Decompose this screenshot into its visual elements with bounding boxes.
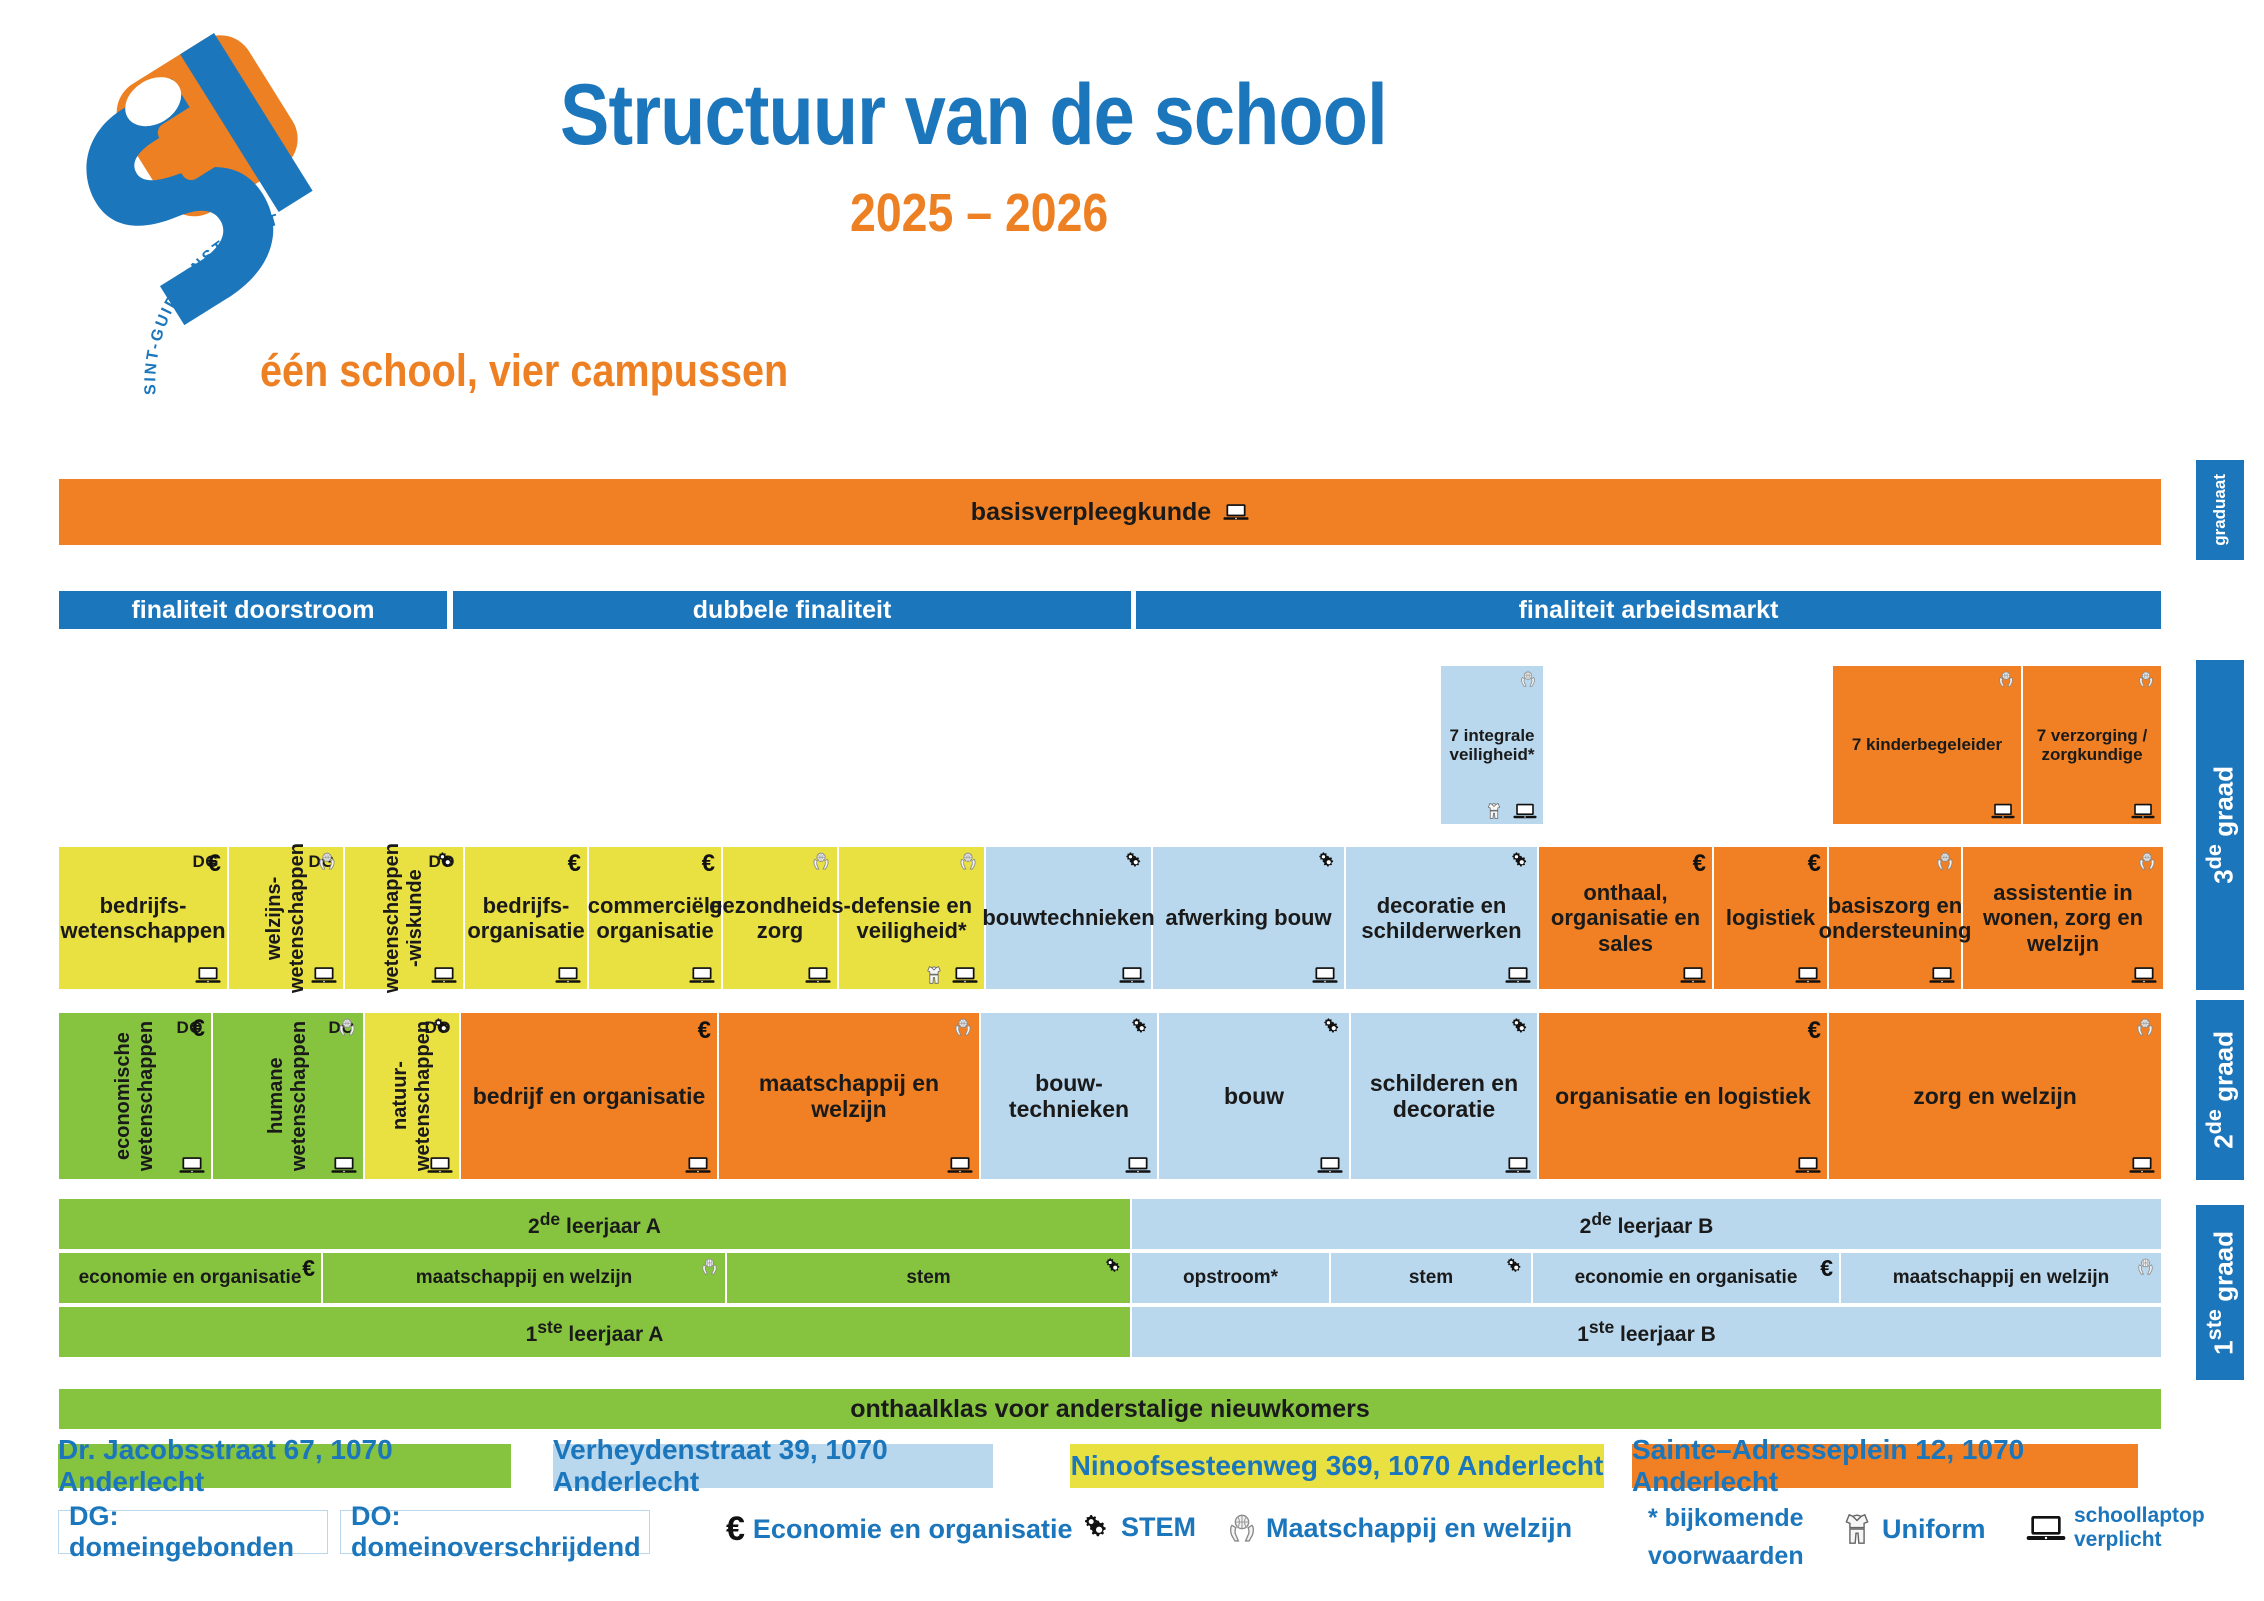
grade2-maatschappij-en-welzijn-label: maatschappij en welzijn	[719, 1070, 979, 1122]
grade3-bouwtechnieken[interactable]: bouwtechnieken	[985, 846, 1152, 990]
grade2-bedrijf-en-organisatie[interactable]: € bedrijf en organisatie	[460, 1012, 718, 1180]
poster-header: SINT-GUIDO-INSTITUUT Structuur van de sc…	[0, 0, 2264, 440]
grade2-humane-wetenschappen[interactable]: DO humane wetenschappen	[212, 1012, 364, 1180]
schoollaptop-icon	[1513, 802, 1537, 820]
grade3-decoratie-en-schilderwerken[interactable]: decoratie en schilderwerken	[1345, 846, 1538, 990]
grade-tab-2de-label: 2de graad	[2201, 1031, 2240, 1149]
schoollaptop-icon	[2131, 802, 2155, 820]
year7-integrale-veiligheid[interactable]: 7 integrale veiligheid*	[1440, 665, 1544, 825]
stem-gears-icon	[1511, 1017, 1531, 1037]
maatschappij-welzijn-icon	[811, 851, 831, 871]
maatschappij-welzijn-icon	[958, 851, 978, 871]
top-right-icons	[1511, 851, 1531, 871]
option-B-1[interactable]: stem	[1330, 1252, 1532, 1304]
bottom-right-icon	[555, 965, 581, 985]
grade-tab-2de: 2de graad	[2196, 1000, 2244, 1180]
grade3-logistiek[interactable]: € logistiek	[1713, 846, 1828, 990]
legend-laptop-line1: schoollaptop	[2074, 1504, 2205, 1527]
grade3-assistentie-in-wonen-zorg-en-welzijn-label: assistentie in wonen, zorg en welzijn	[1963, 880, 2163, 955]
schoollaptop-icon	[1505, 965, 1531, 985]
schoollaptop-icon	[1795, 1155, 1821, 1175]
school-year: 2025 – 2026	[850, 182, 1624, 244]
option-A-2[interactable]: stem	[726, 1252, 1131, 1304]
legend-laptop-text: schoollaptop verplicht	[2074, 1504, 2205, 1552]
campus-address-0[interactable]: Dr. Jacobsstraat 67, 1070 Anderlecht	[58, 1444, 511, 1488]
grade2-economische-wetenschappen-label: economische wetenschappen	[106, 1013, 164, 1179]
option-A-1-label: maatschappij en welzijn	[410, 1267, 638, 1289]
grade2-bouw[interactable]: bouw	[1158, 1012, 1350, 1180]
bottom-right-icon	[311, 965, 337, 985]
year1-B[interactable]: 1ste leerjaar B	[1131, 1306, 2162, 1358]
schoollaptop-icon	[1119, 965, 1145, 985]
euro-icon: €	[1808, 1017, 1821, 1044]
euro-icon: €	[726, 1512, 745, 1546]
maatschappij-welzijn-icon	[1997, 670, 2015, 688]
grade3-decoratie-en-schilderwerken-label: decoratie en schilderwerken	[1346, 893, 1537, 943]
grade2-natuurwetenschappen[interactable]: DO natuur- wetenschappen	[364, 1012, 460, 1180]
bottom-right-icon	[195, 965, 221, 985]
bottom-right-icon	[947, 1155, 973, 1175]
legend-laptop: schoollaptop verplicht	[2026, 1504, 2205, 1552]
legend-laptop-line2: verplicht	[2074, 1528, 2162, 1551]
top-right-icons: €	[568, 851, 581, 876]
option-B-2[interactable]: €economie en organisatie	[1532, 1252, 1840, 1304]
top-right-icons	[1131, 1017, 1151, 1037]
grade3-onthaal-organisatie-en-sales-label: onthaal, organisatie en sales	[1539, 880, 1712, 955]
grade2-zorg-en-welzijn-label: zorg en welzijn	[1907, 1083, 2083, 1109]
grade2-maatschappij-en-welzijn[interactable]: maatschappij en welzijn	[718, 1012, 980, 1180]
maatschappij-welzijn-icon	[317, 851, 337, 871]
grade3-onthaal-organisatie-en-sales[interactable]: € onthaal, organisatie en sales	[1538, 846, 1713, 990]
bottom-right-icon	[689, 965, 715, 985]
schoollaptop-icon	[331, 1155, 357, 1175]
bottom-right-icon	[2129, 1155, 2155, 1175]
legend-welzijn: Maatschappij en welzijn	[1226, 1512, 1572, 1544]
grade2-zorg-en-welzijn[interactable]: zorg en welzijn	[1828, 1012, 2162, 1180]
year7-verzorging-zorgkundige[interactable]: 7 verzorging / zorgkundige	[2022, 665, 2162, 825]
grade2-bouwtechnieken[interactable]: bouw- technieken	[980, 1012, 1158, 1180]
page-title: Structuur van de school	[560, 72, 1850, 158]
maatschappij-welzijn-icon	[2137, 851, 2157, 871]
bottom-right-icon-2	[1485, 802, 1503, 820]
stem-gears-icon	[1506, 1257, 1525, 1276]
grade3-gezondheidszorg[interactable]: gezondheids- zorg	[722, 846, 838, 990]
campus-address-label-1: Verheydenstraat 39, 1070 Anderlecht	[553, 1434, 993, 1498]
bottom-right-icon	[1991, 802, 2015, 820]
option-A-1[interactable]: maatschappij en welzijn	[322, 1252, 726, 1304]
legend-welzijn-label: Maatschappij en welzijn	[1266, 1513, 1572, 1544]
schoollaptop-icon	[2131, 965, 2157, 985]
bottom-right-icon	[2131, 965, 2157, 985]
top-right-icons	[317, 851, 337, 871]
top-right-icons	[811, 851, 831, 871]
legend-stem-label: STEM	[1121, 1512, 1196, 1543]
top-right-icons: €	[1820, 1257, 1833, 1282]
finality-2[interactable]: finaliteit arbeidsmarkt	[1135, 590, 2162, 630]
legend-economie: €Economie en organisatie	[726, 1512, 1073, 1546]
year1-A[interactable]: 1ste leerjaar A	[58, 1306, 1131, 1358]
grade3-gezondheidszorg-label: gezondheids- zorg	[703, 893, 857, 943]
euro-icon: €	[208, 850, 221, 877]
top-right-icons	[958, 851, 978, 871]
top-right-icons	[1318, 851, 1338, 871]
top-right-icons: €	[1808, 1017, 1821, 1043]
top-right-icons	[953, 1017, 973, 1037]
bottom-right-icon	[179, 1155, 205, 1175]
grade-tab-3de: 3de graad	[2196, 660, 2244, 990]
legend-economie-label: Economie en organisatie	[753, 1514, 1073, 1545]
maatschappij-welzijn-icon	[2137, 670, 2155, 688]
top-right-icons	[700, 1257, 719, 1276]
year2-A[interactable]: 2de leerjaar A	[58, 1198, 1131, 1250]
legend-dg-label: DG: domeingebonden	[69, 1501, 317, 1563]
finality-label-0: finaliteit doorstroom	[125, 596, 380, 625]
top-right-icons	[1935, 851, 1955, 871]
top-right-icons	[1125, 851, 1145, 871]
option-B-1-label: stem	[1403, 1267, 1459, 1289]
finality-1[interactable]: dubbele finaliteit	[452, 590, 1132, 630]
onthaalklas-bar[interactable]: onthaalklas voor anderstalige nieuwkomer…	[58, 1388, 2162, 1430]
finality-0[interactable]: finaliteit doorstroom	[58, 590, 448, 630]
grade3-afwerking-bouw[interactable]: afwerking bouw	[1152, 846, 1345, 990]
grade3-bedrijfswetenschappen[interactable]: DG€ bedrijfs- wetenschappen	[58, 846, 228, 990]
graduaat-bar-label: basisverpleegkunde	[965, 498, 1255, 527]
schoollaptop-icon	[1680, 965, 1706, 985]
bottom-right-icon	[1317, 1155, 1343, 1175]
stem-gears-icon	[1105, 1257, 1124, 1276]
grade2-bouwtechnieken-label: bouw- technieken	[981, 1070, 1157, 1122]
schoollaptop-icon	[179, 1155, 205, 1175]
bottom-right-icon	[1312, 965, 1338, 985]
finality-label-1: dubbele finaliteit	[687, 596, 898, 625]
option-B-3-label: maatschappij en welzijn	[1887, 1267, 2115, 1289]
bottom-right-icon	[952, 965, 978, 985]
top-right-icons: €	[1808, 851, 1821, 876]
grade3-commerciele-organisatie[interactable]: € commerciële organisatie	[588, 846, 722, 990]
schoollaptop-icon	[1125, 1155, 1151, 1175]
bottom-right-icon-2	[924, 965, 944, 985]
schoollaptop-icon	[311, 965, 337, 985]
euro-icon: €	[1808, 850, 1821, 877]
year7-integrale-veiligheid-label: 7 integrale veiligheid*	[1441, 726, 1543, 765]
grade3-defensie-en-veiligheid[interactable]: defensie en veiligheid*	[838, 846, 985, 990]
top-right-icons	[1511, 1017, 1531, 1037]
schoollaptop-icon	[1795, 965, 1821, 985]
top-right-icons: €	[1693, 851, 1706, 876]
stem-gears-icon	[1318, 851, 1338, 871]
top-right-icons	[337, 1017, 357, 1037]
grade2-bouw-label: bouw	[1218, 1083, 1290, 1109]
bottom-right-icon	[331, 1155, 357, 1175]
top-right-icons	[1519, 670, 1537, 688]
legend-conditions-line2: voorwaarden	[1648, 1538, 1804, 1576]
schoollaptop-icon	[1505, 1155, 1531, 1175]
maatschappij-welzijn-icon	[1226, 1512, 1258, 1544]
stem-gears-icon	[437, 851, 457, 871]
top-right-icons	[437, 851, 457, 871]
year2-A-label: 2de leerjaar A	[522, 1210, 667, 1239]
stem-gears-icon	[1511, 851, 1531, 871]
euro-icon: €	[1820, 1255, 1833, 1281]
bottom-right-icon	[685, 1155, 711, 1175]
uniform-icon	[924, 965, 944, 985]
schoollaptop-icon	[805, 965, 831, 985]
grade-tab-1ste: 1ste graad	[2196, 1205, 2244, 1380]
grade3-assistentie-in-wonen-zorg-en-welzijn[interactable]: assistentie in wonen, zorg en welzijn	[1962, 846, 2164, 990]
euro-icon: €	[698, 1017, 711, 1044]
grade2-humane-wetenschappen-label: humane wetenschappen	[259, 1013, 317, 1179]
top-right-icons: €	[698, 1017, 711, 1043]
grade3-welzijnswetenschappen-label: welzijns- wetenschappen	[257, 843, 315, 993]
campus-address-label-2: Ninoofsesteenweg 369, 1070 Anderlecht	[1071, 1450, 1604, 1482]
year7-kinderbegeleider-label: 7 kinderbegeleider	[1846, 735, 2008, 754]
uniform-icon	[1485, 802, 1503, 820]
schoollaptop-icon	[947, 1155, 973, 1175]
grade-tab-1ste-label: 1ste graad	[2201, 1231, 2240, 1355]
option-B-3[interactable]: maatschappij en welzijn	[1840, 1252, 2162, 1304]
bottom-right-icon	[1513, 802, 1537, 820]
grade2-schilderen-en-decoratie[interactable]: schilderen en decoratie	[1350, 1012, 1538, 1180]
campus-address-1[interactable]: Verheydenstraat 39, 1070 Anderlecht	[553, 1444, 993, 1488]
top-right-icons	[1323, 1017, 1343, 1037]
legend-conditions: * bijkomende voorwaarden	[1648, 1500, 1804, 1575]
maatschappij-welzijn-icon	[1519, 670, 1537, 688]
grade3-bedrijfsorganisatie[interactable]: € bedrijfs- organisatie	[464, 846, 588, 990]
schoollaptop-icon	[685, 1155, 711, 1175]
grade-tab-3de-label: 3de graad	[2201, 766, 2240, 884]
bottom-right-icon	[1795, 1155, 1821, 1175]
bottom-right-icon	[1505, 965, 1531, 985]
graduaat-basisverpleegkunde-bar[interactable]: basisverpleegkunde	[58, 478, 2162, 546]
tagline: één school, vier campussen	[260, 345, 1228, 397]
grade3-afwerking-bouw-label: afwerking bouw	[1159, 905, 1337, 930]
legend-do-label: DO: domeinoverschrijdend	[351, 1501, 641, 1563]
grade3-bedrijfsorganisatie-label: bedrijfs- organisatie	[461, 893, 590, 943]
grade3-basiszorg-en-ondersteuning[interactable]: basiszorg en ondersteuning	[1828, 846, 1962, 990]
campus-address-3[interactable]: Sainte–Adresseplein 12, 1070 Anderlecht	[1632, 1444, 2138, 1488]
grade3-logistiek-label: logistiek	[1720, 905, 1821, 930]
year2-B[interactable]: 2de leerjaar B	[1131, 1198, 2162, 1250]
top-right-icons	[1506, 1257, 1525, 1276]
schoollaptop-icon	[1929, 965, 1955, 985]
top-right-icons: €	[702, 851, 715, 876]
legend-dg: DG: domeingebonden	[58, 1510, 328, 1554]
stem-gears-icon	[1083, 1513, 1113, 1543]
legend-stem: STEM	[1083, 1512, 1196, 1543]
campus-address-2[interactable]: Ninoofsesteenweg 369, 1070 Anderlecht	[1070, 1444, 1604, 1488]
euro-icon: €	[192, 1015, 205, 1042]
year1-B-label: 1ste leerjaar B	[1571, 1318, 1722, 1347]
onthaalklas-label: onthaalklas voor anderstalige nieuwkomer…	[844, 1395, 1376, 1424]
schoollaptop-icon	[1991, 802, 2015, 820]
grade2-schilderen-en-decoratie-label: schilderen en decoratie	[1351, 1070, 1537, 1122]
option-A-0[interactable]: €economie en organisatie	[58, 1252, 322, 1304]
stem-gears-icon	[1125, 851, 1145, 871]
maatschappij-welzijn-icon	[700, 1257, 719, 1276]
option-A-2-label: stem	[900, 1267, 956, 1289]
grade2-bedrijf-en-organisatie-label: bedrijf en organisatie	[467, 1083, 712, 1109]
graduaat-side-tab: graduaat	[2196, 460, 2244, 560]
bottom-right-icon	[2131, 802, 2155, 820]
legend-conditions-line1: * bijkomende	[1648, 1500, 1804, 1538]
campus-address-label-0: Dr. Jacobsstraat 67, 1070 Anderlecht	[58, 1434, 511, 1498]
top-right-icons: €	[208, 851, 221, 876]
top-right-icons	[2137, 670, 2155, 688]
finality-label-2: finaliteit arbeidsmarkt	[1513, 596, 1785, 625]
uniform-icon	[1840, 1512, 1874, 1546]
maatschappij-welzijn-icon	[337, 1017, 357, 1037]
year1-A-label: 1ste leerjaar A	[520, 1318, 670, 1347]
bottom-right-icon	[1680, 965, 1706, 985]
schoollaptop-icon	[1223, 502, 1249, 522]
schoollaptop-icon	[555, 965, 581, 985]
bottom-right-icon	[431, 965, 457, 985]
schoollaptop-icon	[431, 965, 457, 985]
legend-uniform: Uniform	[1840, 1512, 1986, 1546]
maatschappij-welzijn-icon	[2136, 1257, 2155, 1276]
bottom-right-icon	[1125, 1155, 1151, 1175]
option-B-0-label: opstroom*	[1177, 1267, 1284, 1289]
maatschappij-welzijn-icon	[2135, 1017, 2155, 1037]
top-right-icons	[2137, 851, 2157, 871]
schoollaptop-icon	[689, 965, 715, 985]
schoollaptop-icon	[1317, 1155, 1343, 1175]
legend-uniform-label: Uniform	[1882, 1514, 1986, 1545]
schoollaptop-icon	[195, 965, 221, 985]
grade2-natuurwetenschappen-label: natuur- wetenschappen	[383, 1013, 441, 1179]
bottom-right-icon	[1929, 965, 1955, 985]
maatschappij-welzijn-icon	[953, 1017, 973, 1037]
schoollaptop-icon	[1312, 965, 1338, 985]
year7-verzorging-zorgkundige-label: 7 verzorging / zorgkundige	[2023, 726, 2161, 765]
schoollaptop-icon	[952, 965, 978, 985]
schoollaptop-icon	[2026, 1511, 2066, 1545]
grade3-bouwtechnieken-label: bouwtechnieken	[976, 905, 1160, 930]
top-right-icons	[2136, 1257, 2155, 1276]
option-A-0-label: economie en organisatie	[73, 1267, 308, 1289]
structure-poster: SINT-GUIDO-INSTITUUT Structuur van de sc…	[0, 0, 2264, 1601]
grade3-defensie-en-veiligheid-label: defensie en veiligheid*	[839, 893, 984, 943]
option-B-0[interactable]: opstroom*	[1131, 1252, 1330, 1304]
graduaat-side-label: graduaat	[2210, 474, 2230, 546]
top-right-icons	[1997, 670, 2015, 688]
campus-address-label-3: Sainte–Adresseplein 12, 1070 Anderlecht	[1632, 1434, 2138, 1498]
year7-kinderbegeleider[interactable]: 7 kinderbegeleider	[1832, 665, 2022, 825]
grade3-bedrijfswetenschappen-label: bedrijfs- wetenschappen	[54, 893, 231, 943]
bottom-right-icon	[1795, 965, 1821, 985]
bottom-right-icon	[1505, 1155, 1531, 1175]
grade3-welzijnswetenschappen[interactable]: DG welzijns- wetenschappen	[228, 846, 344, 990]
stem-gears-icon	[1131, 1017, 1151, 1037]
year2-B-label: 2de leerjaar B	[1574, 1210, 1720, 1239]
grade3-wetenschappen-wiskunde-label: wetenschappen -wiskunde	[375, 843, 433, 993]
euro-icon: €	[1693, 850, 1706, 877]
grade3-basiszorg-en-ondersteuning-label: basiszorg en ondersteuning	[1813, 893, 1978, 943]
grade3-wetenschappen-wiskunde[interactable]: DO wetenschappen -wiskunde	[344, 846, 464, 990]
top-right-icons: €	[192, 1017, 205, 1042]
grade2-organisatie-en-logistiek[interactable]: € organisatie en logistiek	[1538, 1012, 1828, 1180]
bottom-right-icon	[1119, 965, 1145, 985]
grade2-organisatie-en-logistiek-label: organisatie en logistiek	[1549, 1083, 1817, 1109]
option-B-2-label: economie en organisatie	[1569, 1267, 1804, 1289]
top-right-icons	[2135, 1017, 2155, 1037]
schoollaptop-icon	[2129, 1155, 2155, 1175]
bottom-right-icon	[805, 965, 831, 985]
top-right-icons	[1105, 1257, 1124, 1276]
legend-do: DO: domeinoverschrijdend	[340, 1510, 650, 1554]
euro-icon: €	[702, 850, 715, 877]
euro-icon: €	[568, 850, 581, 877]
stem-gears-icon	[1323, 1017, 1343, 1037]
maatschappij-welzijn-icon	[1935, 851, 1955, 871]
grade2-economische-wetenschappen[interactable]: DO€ economische wetenschappen	[58, 1012, 212, 1180]
